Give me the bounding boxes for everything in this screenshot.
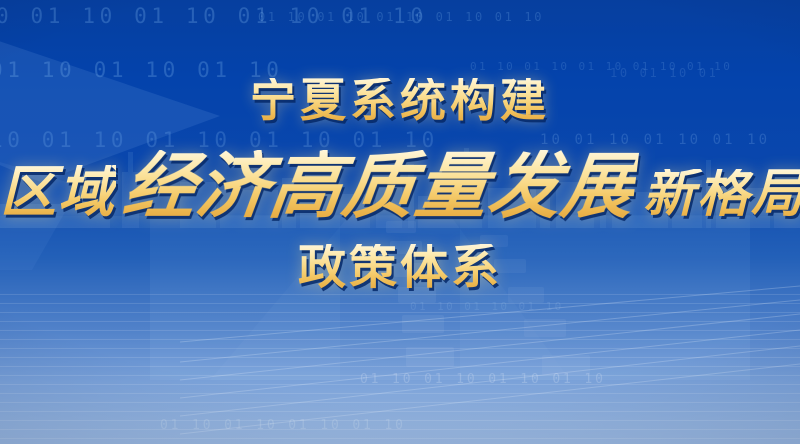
binary-row-bottom-left: 01 10 01 10 01 10 01 10 <box>160 418 406 433</box>
binary-row-top-left: 0 01 10 01 10 01 10 01 10 <box>0 4 428 28</box>
binary-row-bottom-center: 01 10 01 10 01 10 01 10 <box>360 372 606 387</box>
headline-block: 宁夏系统构建 区域 经济高质量发展 新格局 政策体系 <box>0 78 800 292</box>
converging-perspective-lines <box>180 284 800 444</box>
bottom-scanlines <box>0 294 800 444</box>
headline-line-2: 区域 经济高质量发展 新格局 <box>0 150 800 222</box>
headline-line-2-suffix: 新格局 <box>643 169 800 221</box>
headline-line-2-emphasis: 经济高质量发展 <box>120 150 640 222</box>
binary-row-center-faint: 01 10 01 10 01 10 <box>410 300 564 313</box>
headline-line-1: 宁夏系统构建 <box>0 78 800 124</box>
headline-line-2-prefix: 区域 <box>0 165 116 221</box>
headline-line-3: 政策体系 <box>0 244 800 292</box>
poster-banner: 0 01 10 01 10 01 10 01 10 01 10 01 10 01… <box>0 0 800 444</box>
binary-row-upper-right: 01 10 01 10 01 10 01 10 01 10 <box>470 60 732 73</box>
binary-row-top-small: 01 10 01 10 01 10 01 10 01 10 <box>258 10 544 24</box>
